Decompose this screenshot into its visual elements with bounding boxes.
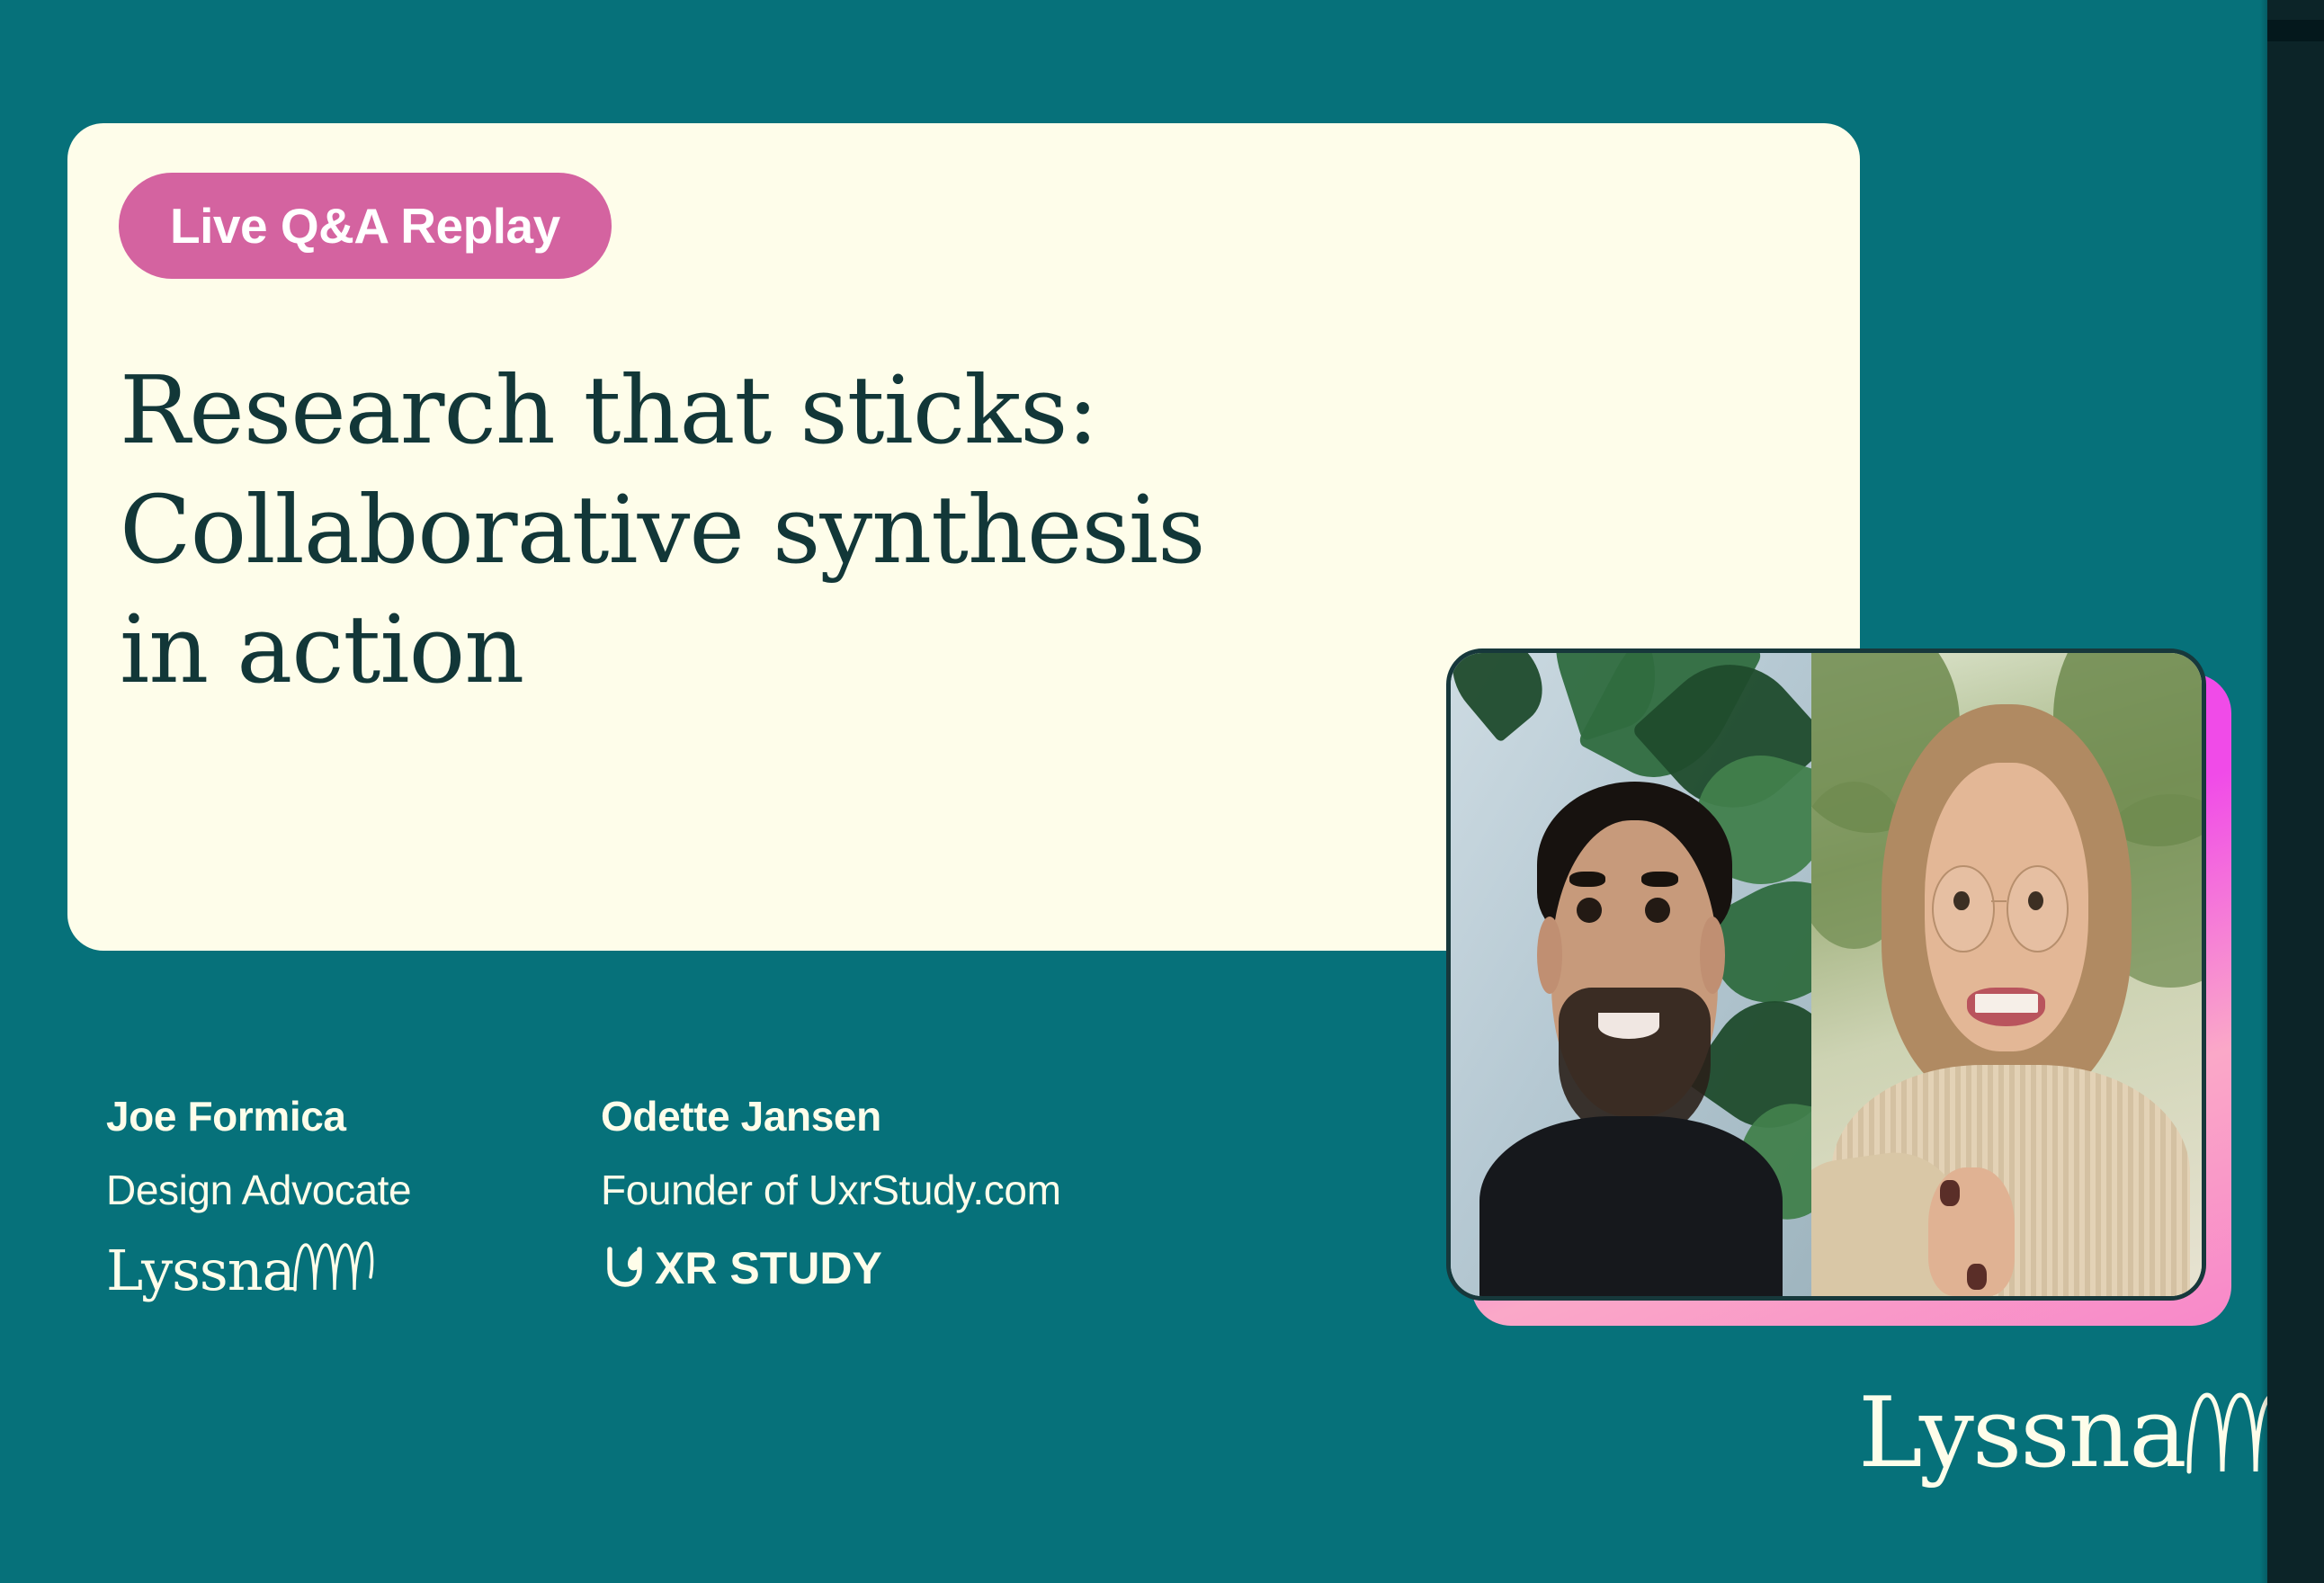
- uxr-study-logo: XR STUDY: [601, 1239, 1284, 1297]
- slide-canvas: Live Q&A Replay Research that sticks: Co…: [0, 0, 2324, 1583]
- presenter-name: Joe Formica: [106, 1096, 601, 1137]
- right-edge-top-accent: [2267, 20, 2324, 41]
- video-panel-left: [1451, 653, 1811, 1296]
- lyssna-logo: Lyssna: [106, 1239, 601, 1297]
- video-panel-right: [1811, 653, 2202, 1296]
- lyssna-squiggle-icon: [290, 1239, 376, 1296]
- page-title: Research that sticks: Collaborative synt…: [120, 351, 1469, 710]
- presenter-odette-jansen: Odette Jansen Founder of UxrStudy.com XR…: [601, 1096, 1284, 1297]
- presenter-joe-formica: Joe Formica Design Advocate Lyssna: [106, 1096, 601, 1297]
- lyssna-wordmark: Lyssna: [106, 1245, 295, 1298]
- uxr-u-leaf-icon: [601, 1242, 651, 1295]
- right-edge-strip: [2267, 0, 2324, 1583]
- video-thumbnail[interactable]: [1446, 648, 2206, 1301]
- video-frame[interactable]: [1446, 648, 2206, 1301]
- presenter-role: Design Advocate: [106, 1169, 601, 1211]
- lyssna-footer-logo: Lyssna: [1858, 1388, 2324, 1480]
- presenter-list: Joe Formica Design Advocate Lyssna Odett…: [106, 1096, 1320, 1297]
- live-qa-replay-badge: Live Q&A Replay: [119, 173, 612, 279]
- presenter-role: Founder of UxrStudy.com: [601, 1169, 1284, 1211]
- lyssna-wordmark: Lyssna: [1858, 1388, 2185, 1480]
- presenter-name: Odette Jansen: [601, 1096, 1284, 1137]
- edge-strip-shadow: [2260, 0, 2267, 1583]
- uxr-study-wordmark: XR STUDY: [655, 1246, 882, 1291]
